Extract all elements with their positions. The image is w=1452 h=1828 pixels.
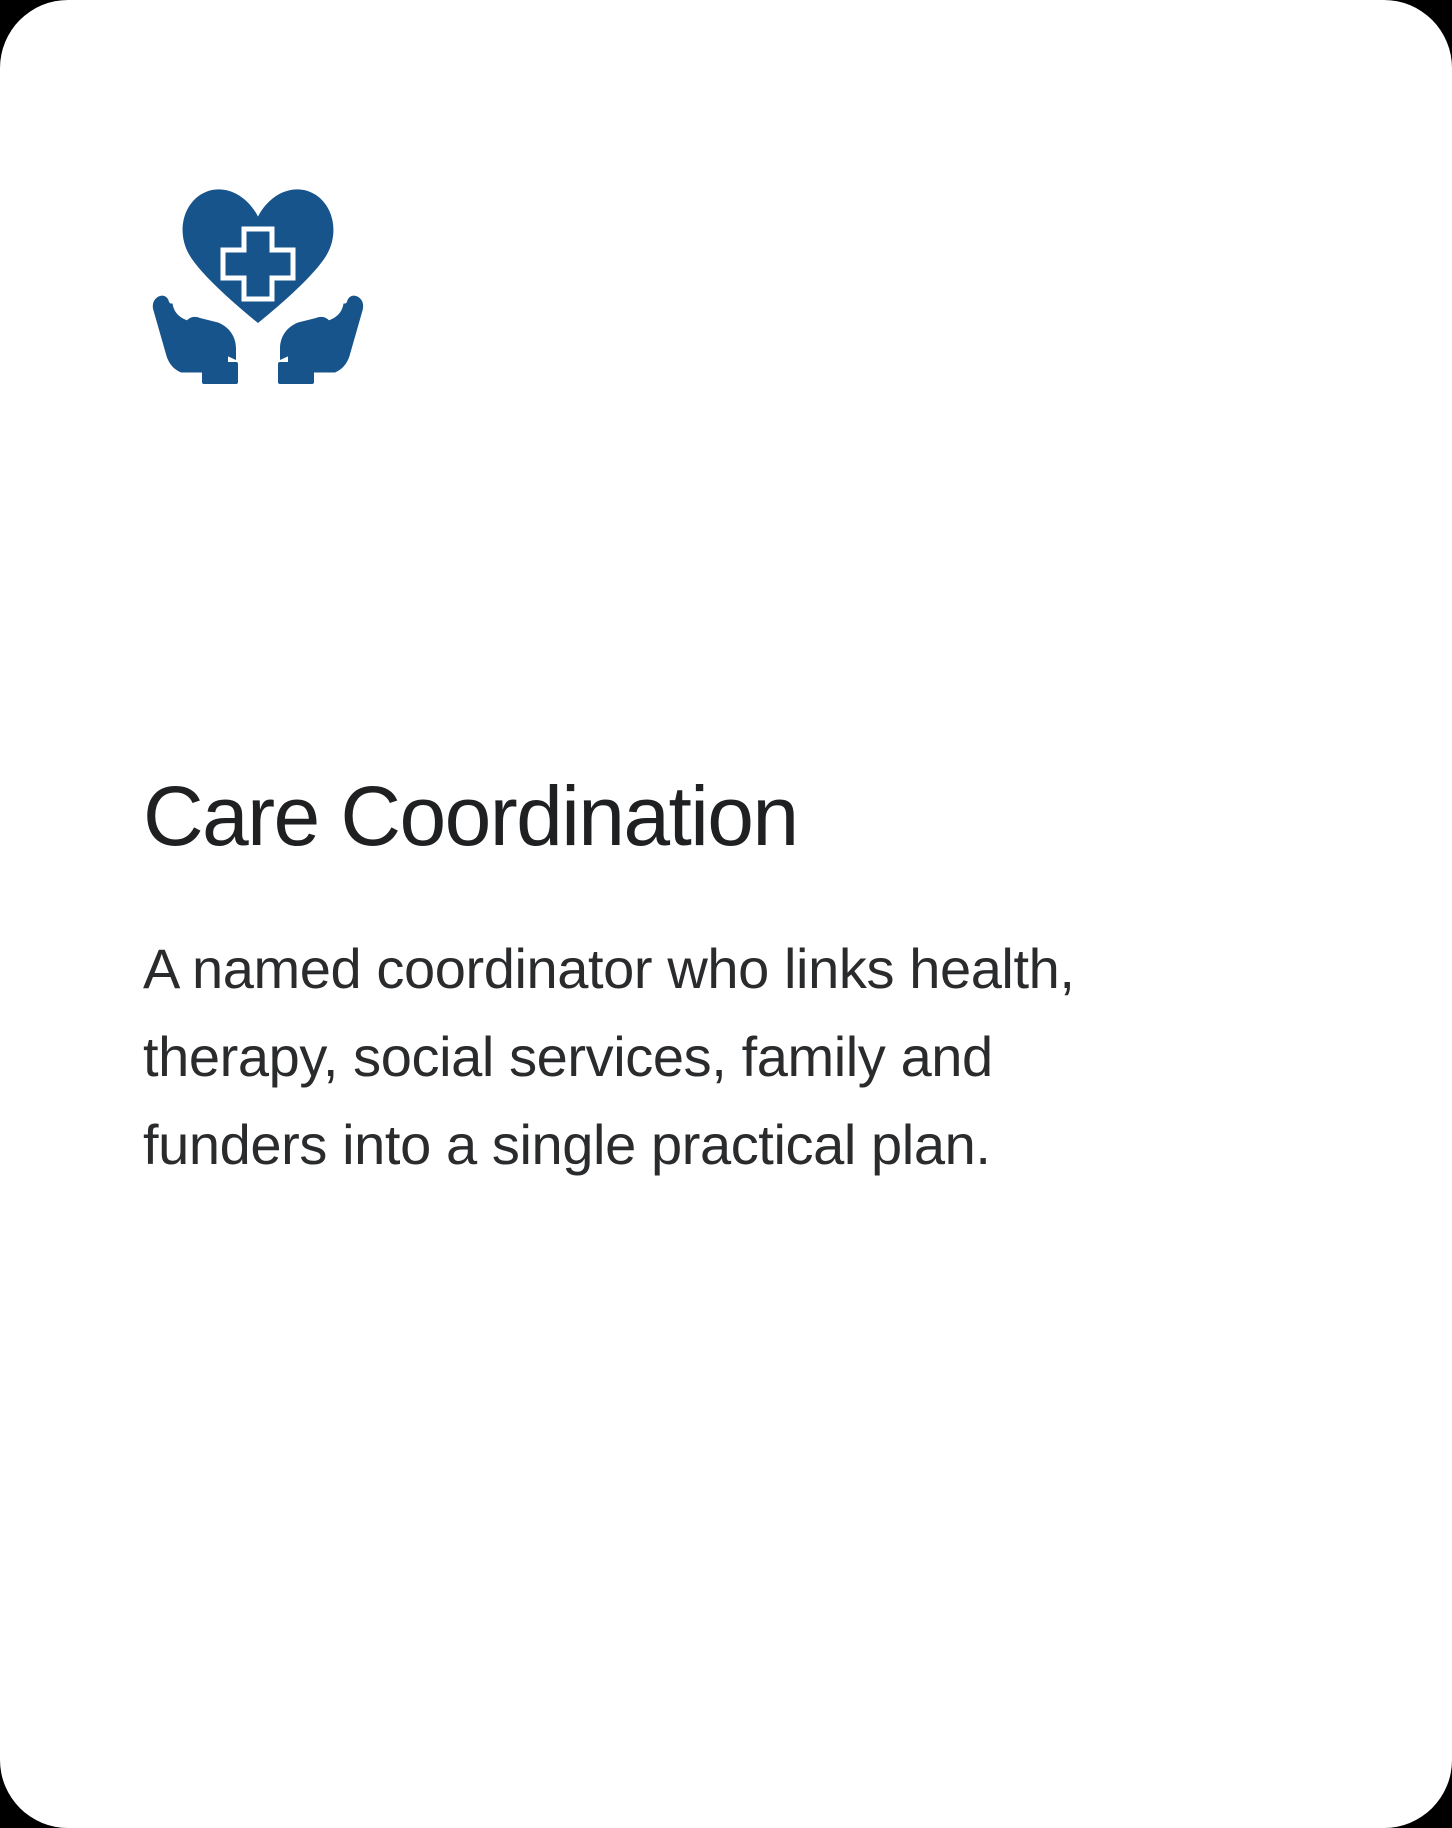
care-coordination-card: Care Coordination A named coordinator wh… <box>0 0 1452 1828</box>
hands-holding-heart-with-medical-cross-icon <box>140 150 376 386</box>
page-title: Care Coordination <box>143 771 1263 862</box>
card-content: Care Coordination A named coordinator wh… <box>0 0 1452 1828</box>
card-description: A named coordinator who links health, th… <box>143 925 1103 1189</box>
